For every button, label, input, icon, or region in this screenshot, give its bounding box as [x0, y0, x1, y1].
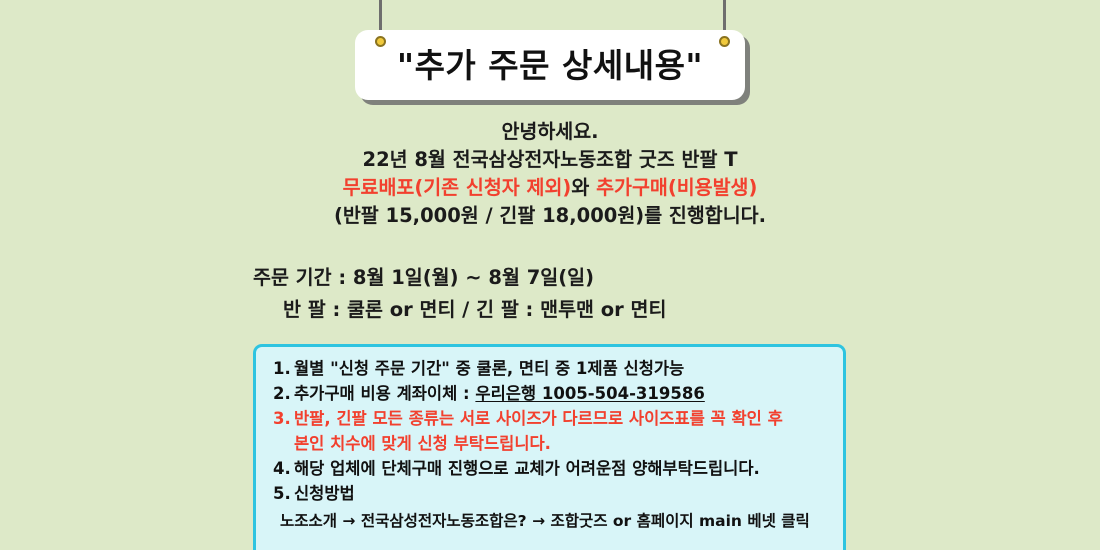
page-title: "추가 주문 상세내용": [397, 49, 703, 82]
note-number-3: 3.: [273, 406, 294, 431]
conjunction-text: 와: [571, 176, 589, 199]
title-banner: "추가 주문 상세내용": [355, 30, 745, 100]
extra-purchase-text: 추가구매(비용발생): [596, 176, 757, 199]
note-item-5: 5. 신청방법: [256, 481, 843, 506]
product-options-text: 반 팔 : 쿨론 or 면티 / 긴 팔 : 맨투맨 or 면티: [283, 294, 1100, 326]
note-number-4: 4.: [273, 456, 294, 481]
greeting-line-3: 무료배포(기존 신청자 제외)와 추가구매(비용발생): [0, 174, 1100, 202]
note-number-2: 2.: [273, 381, 294, 406]
greeting-line-4-prices: (반팔 15,000원 / 긴팔 18,000원)를 진행합니다.: [0, 202, 1100, 230]
note-number-5: 5.: [273, 481, 294, 506]
note-text-4: 해당 업체에 단체구매 진행으로 교체가 어려운점 양해부탁드립니다.: [294, 456, 760, 481]
note-text-3: 반팔, 긴팔 모든 종류는 서로 사이즈가 다르므로 사이즈표를 꼭 확인 후: [294, 406, 783, 431]
note-item-3: 3. 반팔, 긴팔 모든 종류는 서로 사이즈가 다르므로 사이즈표를 꼭 확인…: [256, 406, 843, 431]
note-text-5: 신청방법: [294, 481, 355, 506]
notes-box: 1. 월별 "신청 주문 기간" 중 쿨론, 면티 중 1제품 신청가능 2. …: [253, 344, 846, 550]
pin-icon-right: [719, 36, 730, 47]
poster-canvas: "추가 주문 상세내용" 안녕하세요. 22년 8월 전국삼상전자노동조합 굿즈…: [0, 0, 1100, 550]
note-number-1: 1.: [273, 356, 294, 381]
order-period-text: 주문 기간 : 8월 1일(월) ~ 8월 7일(일): [253, 262, 1100, 294]
free-distribution-text: 무료배포(기존 신청자 제외): [343, 176, 572, 199]
period-block: 주문 기간 : 8월 1일(월) ~ 8월 7일(일) 반 팔 : 쿨론 or …: [0, 262, 1100, 326]
greeting-line-1: 안녕하세요.: [0, 118, 1100, 146]
pin-icon-left: [375, 36, 386, 47]
note-item-1: 1. 월별 "신청 주문 기간" 중 쿨론, 면티 중 1제품 신청가능: [256, 356, 843, 381]
note-text-3-continuation: 본인 치수에 맞게 신청 부탁드립니다.: [256, 431, 843, 456]
note-text-1: 월별 "신청 주문 기간" 중 쿨론, 면티 중 1제품 신청가능: [294, 356, 684, 381]
note-item-2: 2. 추가구매 비용 계좌이체 : 우리은행 1005-504-319586: [256, 381, 843, 406]
greeting-block: 안녕하세요. 22년 8월 전국삼상전자노동조합 굿즈 반팔 T 무료배포(기존…: [0, 118, 1100, 230]
note-text-2: 추가구매 비용 계좌이체 : 우리은행 1005-504-319586: [294, 381, 705, 406]
greeting-line-2: 22년 8월 전국삼상전자노동조합 굿즈 반팔 T: [0, 146, 1100, 174]
note-text-2-prefix: 추가구매 비용 계좌이체 :: [294, 384, 475, 403]
application-path-text: 노조소개 → 전국삼성전자노동조합은? → 조합굿즈 or 홈페이지 main …: [256, 506, 843, 534]
note-item-4: 4. 해당 업체에 단체구매 진행으로 교체가 어려운점 양해부탁드립니다.: [256, 456, 843, 481]
bank-account-text: 우리은행 1005-504-319586: [475, 384, 704, 403]
